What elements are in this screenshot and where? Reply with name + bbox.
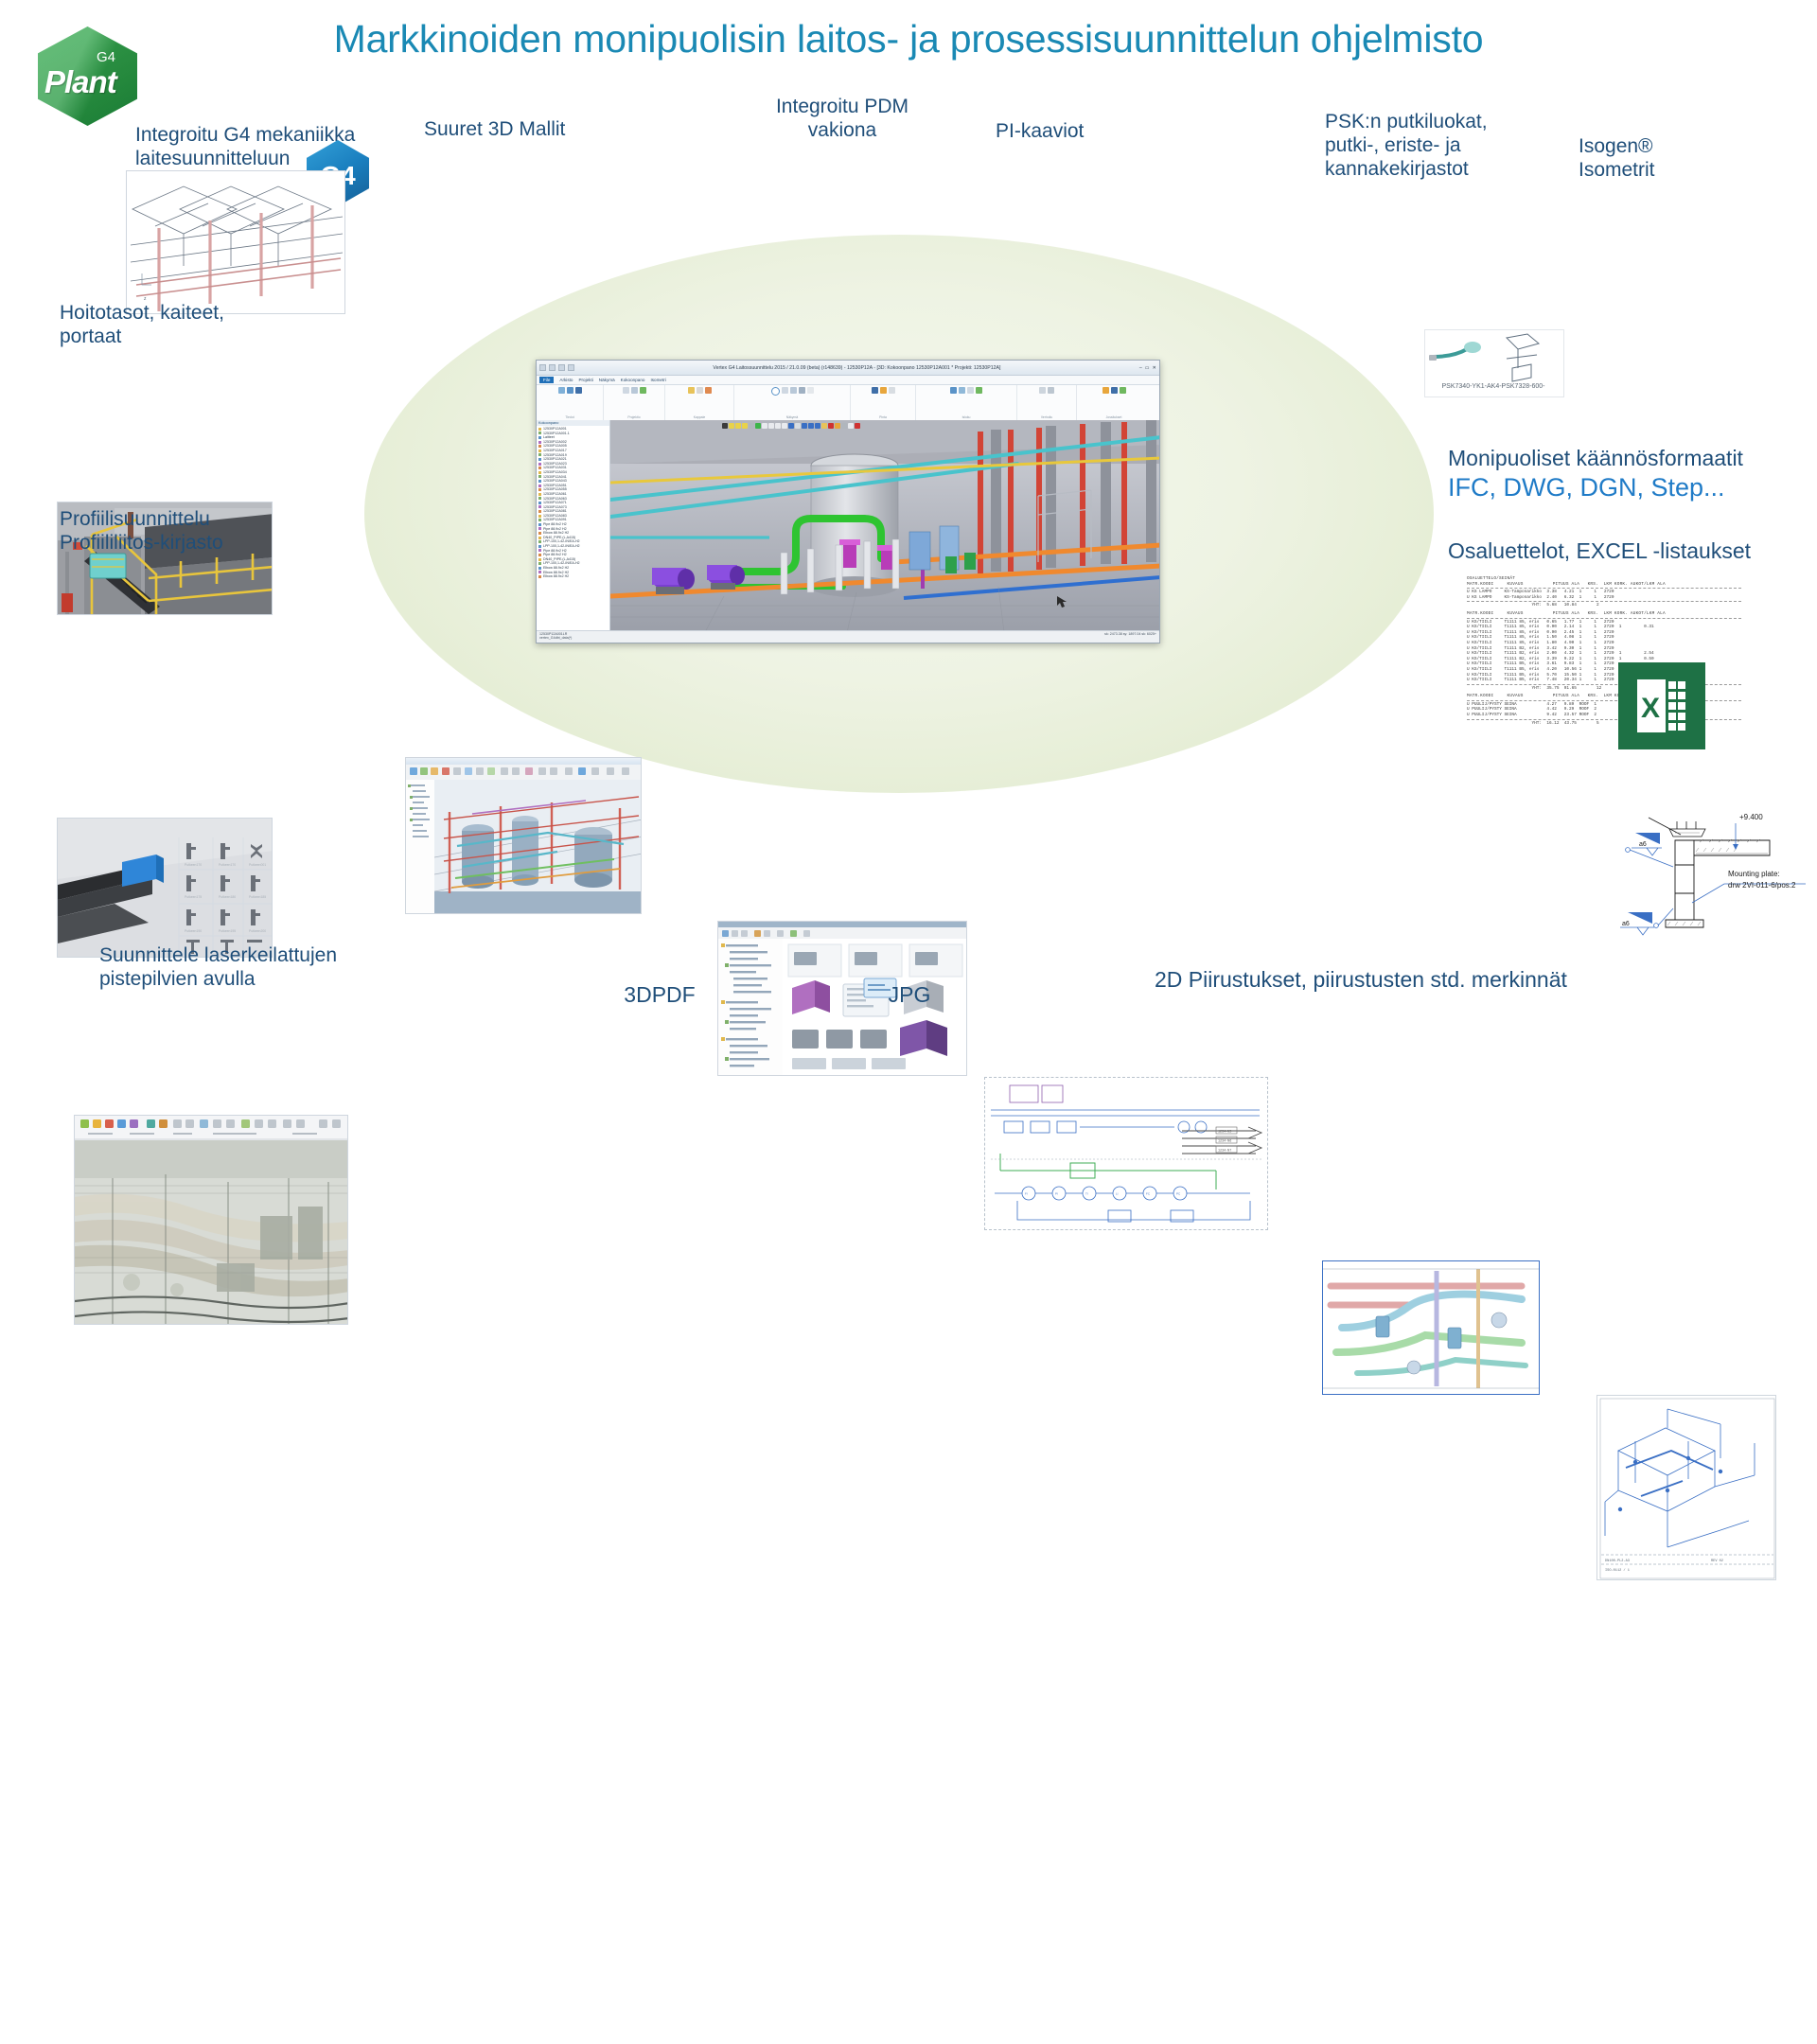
caption-big-models: Suuret 3D Mallit	[424, 117, 642, 141]
svg-text:TI: TI	[1085, 1191, 1088, 1195]
svg-text:Putkeen185: Putkeen185	[249, 895, 266, 899]
svg-text:1234-N5: 1234-N5	[1218, 1130, 1231, 1134]
tab-isometri[interactable]: Isometri	[650, 378, 665, 382]
caption-lists: Osaluettelot, EXCEL -listaukset	[1448, 539, 1817, 563]
vp-icon-blue3[interactable]	[808, 423, 814, 429]
ribbon-group-label-projektio: Projektio	[627, 415, 640, 419]
status-bar-coords: sk: 2473.38 sy: 1897.04 sk: 6025+	[1104, 632, 1156, 636]
ribbon-icon-mitat[interactable]	[807, 387, 814, 394]
ribbon-icon-sulje[interactable]	[976, 387, 982, 394]
tree-node-icon	[538, 575, 541, 578]
thumb-psk-piping[interactable]	[1322, 1260, 1540, 1395]
window-close-button[interactable]: ✕	[1153, 365, 1156, 371]
ribbon-icon-osoita[interactable]	[640, 387, 646, 394]
frame-wireframe-graphic: z	[127, 171, 345, 314]
tree-node-icon	[538, 519, 541, 521]
profile-library-graphic: Putkeen170Putkeen170Putkeen001 Putkeen17…	[58, 819, 273, 958]
vp-icon-red1[interactable]	[828, 423, 834, 429]
plant-logo-superscript: G4	[97, 49, 115, 65]
caption-pi-diagrams: PI-kaaviot	[996, 119, 1166, 143]
svg-text:FI: FI	[1025, 1191, 1028, 1195]
tree-node-icon	[538, 475, 541, 478]
model-3d-graphic	[434, 780, 641, 913]
vp-icon-white4[interactable]	[782, 423, 787, 429]
tree-node-icon	[538, 562, 541, 565]
ribbon-icon-perspektiivi[interactable]	[631, 387, 638, 394]
vp-icon-grey1[interactable]	[795, 423, 801, 429]
tree-node-icon	[538, 549, 541, 552]
tree-node-icon	[538, 497, 541, 500]
cad-window-title: Vertex G4 Laitossuunnittelu 2015 / 21.0.…	[577, 365, 1137, 371]
tree-node-icon	[538, 458, 541, 461]
cad-status-bar: 12530P12A001LR sk: 2473.38 sy: 1897.04 s…	[537, 630, 1159, 643]
thumb-pointcloud-app[interactable]	[74, 1115, 348, 1325]
tree-node-icon	[538, 537, 541, 539]
vp-icon-rotate2[interactable]	[742, 423, 748, 429]
svg-text:Putkeen200: Putkeen200	[249, 929, 266, 933]
ribbon-icon-poista[interactable]	[697, 387, 703, 394]
ribbon-group-label-pinta: Pinta	[879, 415, 887, 419]
ribbon-icon-osat[interactable]	[967, 387, 974, 394]
svg-text:1234-N7: 1234-N7	[1218, 1149, 1231, 1153]
tree-node-icon	[538, 505, 541, 508]
svg-text:Putkeen190: Putkeen190	[185, 929, 202, 933]
ribbon-icon-zoomaa-search-icon[interactable]	[771, 387, 780, 396]
ribbon-group-label-tiedot: Tiedot	[565, 415, 573, 419]
tab-file[interactable]: File	[539, 377, 554, 383]
cad-body: Kokoonpano 12530P12A00112530P12A001.1Lai…	[537, 420, 1159, 630]
tree-node-icon	[538, 540, 541, 543]
model-ribbon-graphic	[406, 765, 641, 780]
ribbon-icon-rautalanka[interactable]	[889, 387, 895, 394]
ribbon-icon-koko-kuva[interactable]	[790, 387, 797, 394]
vp-icon-white2[interactable]	[768, 423, 774, 429]
tab-projekti[interactable]: Projekti	[578, 378, 592, 382]
ribbon-group-nakyma[interactable]: Näkymä	[734, 385, 851, 421]
tab-nakyma[interactable]: Näkymä	[599, 378, 615, 382]
tree-node-icon	[538, 558, 541, 561]
ribbon-group-jossitukset[interactable]: Jossitukset	[1077, 385, 1151, 421]
caption-platforms: Hoitotasot, kaiteet, portaat	[60, 301, 306, 348]
quick-access-new-icon[interactable]	[568, 364, 574, 371]
bom-data-row: U KS LAMPO KS-Tamponarikko 2.40 6.32 1 1…	[1467, 595, 1741, 601]
detail-note-line2: drw 2VI-011-6/pos.2	[1728, 881, 1796, 890]
vp-icon-yellow1[interactable]	[821, 423, 827, 429]
tree-node-icon	[538, 432, 541, 434]
vp-icon-blue2[interactable]	[802, 423, 807, 429]
svg-text:PI: PI	[1055, 1191, 1058, 1195]
status-bar-file: vertex_G4dbt_data(*)	[539, 636, 1156, 640]
quick-access-undo-icon[interactable]	[549, 364, 556, 371]
excel-icon[interactable]: X	[1618, 662, 1705, 749]
svg-text:1234-N6: 1234-N6	[1218, 1139, 1231, 1143]
svg-text:Putkeen170: Putkeen170	[219, 863, 236, 867]
ribbon-icon-piirra-takaa[interactable]	[705, 387, 712, 394]
svg-text:X: X	[1641, 693, 1660, 724]
ribbon-icon-luettelo[interactable]	[950, 387, 957, 394]
svg-text:Putkeen175: Putkeen175	[185, 895, 202, 899]
tree-node-icon	[538, 463, 541, 466]
viewport-3d-scene	[610, 420, 1159, 630]
tree-node-icon	[538, 480, 541, 483]
assembly-tree-panel[interactable]: Kokoonpano 12530P12A00112530P12A001.1Lai…	[537, 420, 610, 630]
vp-icon-red2[interactable]	[855, 423, 860, 429]
assembly-tree-list[interactable]: 12530P12A00112530P12A001.1Laitteet12530P…	[538, 427, 608, 579]
caption-profiles: Profiilisuunnittelu Profiililiitos-kirja…	[60, 507, 325, 555]
model-tree-graphic	[406, 780, 434, 913]
caption-2d-drawings: 2D Piirustukset, piirustusten std. merki…	[1155, 967, 1741, 993]
caption-jpg: JPG	[803, 982, 1016, 1008]
ribbon-group-label-kappale: Kappale	[694, 415, 705, 419]
ribbon-icon-pinnalletulostus[interactable]	[1111, 387, 1118, 394]
tree-node-icon	[538, 436, 541, 439]
thumb-profile-library[interactable]: Putkeen170Putkeen170Putkeen001 Putkeen17…	[57, 818, 273, 958]
vp-icon-rotate[interactable]	[735, 423, 741, 429]
ribbon-icon-piirra-uudelleen[interactable]	[799, 387, 805, 394]
tree-node-icon	[538, 515, 541, 518]
viewport-floating-toolbar[interactable]	[722, 423, 860, 429]
caption-formats-heading: Monipuoliset käännösformaatit	[1448, 447, 1817, 470]
tree-node-icon	[538, 532, 541, 535]
svg-text:Putkeen180: Putkeen180	[219, 895, 236, 899]
tree-node-icon	[538, 523, 541, 526]
detail-note-line1: Mounting plate:	[1728, 870, 1780, 878]
vp-icon-white5[interactable]	[848, 423, 854, 429]
cad-ribbon-tabbar[interactable]: File Arkisto Projekti Näkymä Kokoonpano …	[537, 376, 1159, 385]
tab-kokoonpano[interactable]: Kokoonpano	[621, 378, 645, 382]
tree-node-icon	[538, 567, 541, 570]
ribbon-icon-visualisoi[interactable]	[872, 387, 878, 394]
ribbon-icon-varjostus-piirto[interactable]	[1103, 387, 1109, 394]
tree-node-icon	[538, 449, 541, 452]
svg-text:ISO-0112 / 1: ISO-0112 / 1	[1605, 1568, 1630, 1573]
tree-node-icon	[538, 510, 541, 513]
vp-icon-grey2[interactable]	[841, 423, 847, 429]
pointcloud-viewport-graphic	[75, 1140, 347, 1324]
tree-node-icon	[538, 493, 541, 496]
window-minimize-button[interactable]: –	[1139, 365, 1142, 371]
tree-node-icon	[538, 485, 541, 487]
tree-node-icon	[538, 441, 541, 444]
cad-ribbon[interactable]: Tiedot Projektio Kappale	[537, 385, 1159, 422]
tree-node-icon	[538, 445, 541, 448]
caption-isogen: Isogen® Isometrit	[1579, 134, 1749, 182]
tree-node-label: Elbow 88.9x2 H2	[543, 574, 569, 579]
quick-access-redo-icon[interactable]	[558, 364, 565, 371]
thumb-big-3d-model[interactable]	[405, 757, 642, 914]
tree-node-icon	[538, 471, 541, 474]
vp-icon-blue4[interactable]	[815, 423, 820, 429]
bom-divider	[1467, 588, 1741, 589]
psk-piping-graphic	[1323, 1261, 1540, 1395]
svg-text:LI: LI	[1116, 1191, 1119, 1195]
assembly-tree-item[interactable]: Elbow 88.9x2 H2	[538, 574, 608, 579]
svg-text:Putkeen170: Putkeen170	[185, 863, 202, 867]
detail-weld-bottom-label: a6	[1622, 921, 1630, 927]
ribbon-icon-jaejoista[interactable]	[959, 387, 965, 394]
detail-weld-top-label: a6	[1639, 841, 1647, 848]
pointcloud-ribbon-graphic	[75, 1116, 347, 1140]
vp-icon-green-fill[interactable]	[755, 423, 761, 429]
tree-node-icon	[538, 488, 541, 491]
ribbon-group-pinta[interactable]: Pinta	[851, 385, 916, 421]
psk-image-label: PSK7340-YK1-AK4-PSK7328-600-	[1424, 383, 1562, 390]
caption-pdm: Integroitu PDM vakiona	[748, 95, 937, 142]
plant-hexagon-logo: Plant G4	[38, 26, 137, 126]
bom-divider	[1467, 601, 1741, 602]
vp-icon-white3[interactable]	[775, 423, 781, 429]
ribbon-group-kappale[interactable]: Kappale	[665, 385, 734, 421]
plant-logo-word: Plant	[44, 64, 116, 100]
caption-3dpdf: 3DPDF	[538, 982, 782, 1008]
assembly-tree-header: Kokoonpano	[537, 420, 609, 426]
tab-arkisto[interactable]: Arkisto	[559, 378, 573, 382]
tree-node-icon	[538, 502, 541, 504]
ribbon-group-label-nakyma: Näkymä	[786, 415, 798, 419]
cad-title-bar[interactable]: Vertex G4 Laitossuunnittelu 2015 / 21.0.…	[537, 361, 1159, 376]
ribbon-group-label-verhoilu: Verhoilu	[1041, 415, 1052, 419]
tree-node-icon	[538, 554, 541, 556]
ribbon-icon-avaa[interactable]	[688, 387, 695, 394]
cad-application-window[interactable]: Vertex G4 Laitossuunnittelu 2015 / 21.0.…	[536, 360, 1160, 643]
ribbon-icon-valitse[interactable]	[558, 387, 565, 394]
tree-node-icon	[538, 545, 541, 548]
thumb-2d-weld-detail[interactable]: +9.400 a6 a6 Mounting plate: drw 2VI-011…	[1596, 806, 1813, 960]
ribbon-group-label-isluku: Isluku	[962, 415, 971, 419]
tree-node-icon	[538, 571, 541, 573]
bom-header-row: MATR.KOODI KUVAUS PITUUS ALA KRS. LKM KO…	[1467, 611, 1741, 617]
cad-3d-viewport[interactable]	[610, 420, 1159, 630]
ribbon-group-isluku[interactable]: Isluku	[916, 385, 1017, 421]
ribbon-icon-kaikki[interactable]	[575, 387, 582, 394]
tree-node-icon	[538, 428, 541, 431]
weld-detail-graphic: +9.400 a6 a6 Mounting plate: drw 2VI-011…	[1596, 806, 1813, 960]
vp-icon-link[interactable]	[749, 423, 754, 429]
caption-psk: PSK:n putkiluokat, putki-, eriste- ja ka…	[1325, 110, 1533, 181]
vp-icon-orange1[interactable]	[835, 423, 840, 429]
pi-diagram-graphic: 1234-N51234-N61234-N7 FIPITI LIFCPC	[985, 1078, 1268, 1230]
ribbon-icon-varjostus[interactable]	[880, 387, 887, 394]
ribbon-icon-lopeta[interactable]	[1048, 387, 1054, 394]
ribbon-icon-tiedosto[interactable]	[1039, 387, 1046, 394]
excel-icon-glyph: X	[1637, 679, 1686, 732]
quick-access-save-icon[interactable]	[539, 364, 546, 371]
svg-text:Putkeen001: Putkeen001	[249, 863, 266, 867]
page-title: Markkinoiden monipuolisin laitos- ja pro…	[0, 17, 1817, 62]
ribbon-icon-isom[interactable]	[623, 387, 629, 394]
vp-icon-measure[interactable]	[729, 423, 734, 429]
ribbon-group-projektio[interactable]: Projektio	[604, 385, 665, 421]
vp-icon-pen[interactable]	[722, 423, 728, 429]
tree-node-icon	[538, 453, 541, 456]
thumb-mechanics-frame[interactable]: z	[126, 170, 345, 314]
ribbon-icon-taso[interactable]	[567, 387, 573, 394]
svg-text:REV 02: REV 02	[1711, 1559, 1723, 1563]
thumb-pi-diagram[interactable]: 1234-N51234-N61234-N7 FIPITI LIFCPC	[984, 1077, 1268, 1230]
vp-icon-blue1[interactable]	[788, 423, 794, 429]
thumb-isogen-isometric[interactable]: DN100-PL2-A3ISO-0112 / 1 REV 02	[1596, 1395, 1776, 1580]
ribbon-icon-panoroi[interactable]	[782, 387, 788, 394]
isogen-isometric-graphic: DN100-PL2-A3ISO-0112 / 1 REV 02	[1597, 1396, 1776, 1580]
bom-header-row: MATR.KOODI KUVAUS PITUUS ALA KRS. LKM KO…	[1467, 582, 1741, 588]
ribbon-group-verhoilu[interactable]: Verhoilu	[1017, 385, 1077, 421]
ribbon-group-tiedot[interactable]: Tiedot	[537, 385, 604, 421]
caption-formats-list: IFC, DWG, DGN, Step...	[1448, 473, 1817, 502]
tree-node-icon	[538, 527, 541, 530]
bom-divider	[1467, 618, 1741, 619]
caption-pointcloud: Suunnittele laserkeilattujen pistepilvie…	[99, 943, 412, 991]
psk-valve-graphic	[1425, 330, 1563, 383]
svg-text:Putkeen195: Putkeen195	[219, 929, 236, 933]
ribbon-group-label-jossitukset: Jossitukset	[1106, 415, 1122, 419]
ribbon-icon-nakyvyys[interactable]	[1120, 387, 1126, 394]
vp-icon-white1[interactable]	[762, 423, 767, 429]
svg-text:DN100-PL2-A3: DN100-PL2-A3	[1605, 1559, 1630, 1563]
window-restore-button[interactable]: ▭	[1145, 365, 1150, 371]
detail-elevation-label: +9.400	[1739, 813, 1763, 821]
tree-node-icon	[538, 467, 541, 469]
